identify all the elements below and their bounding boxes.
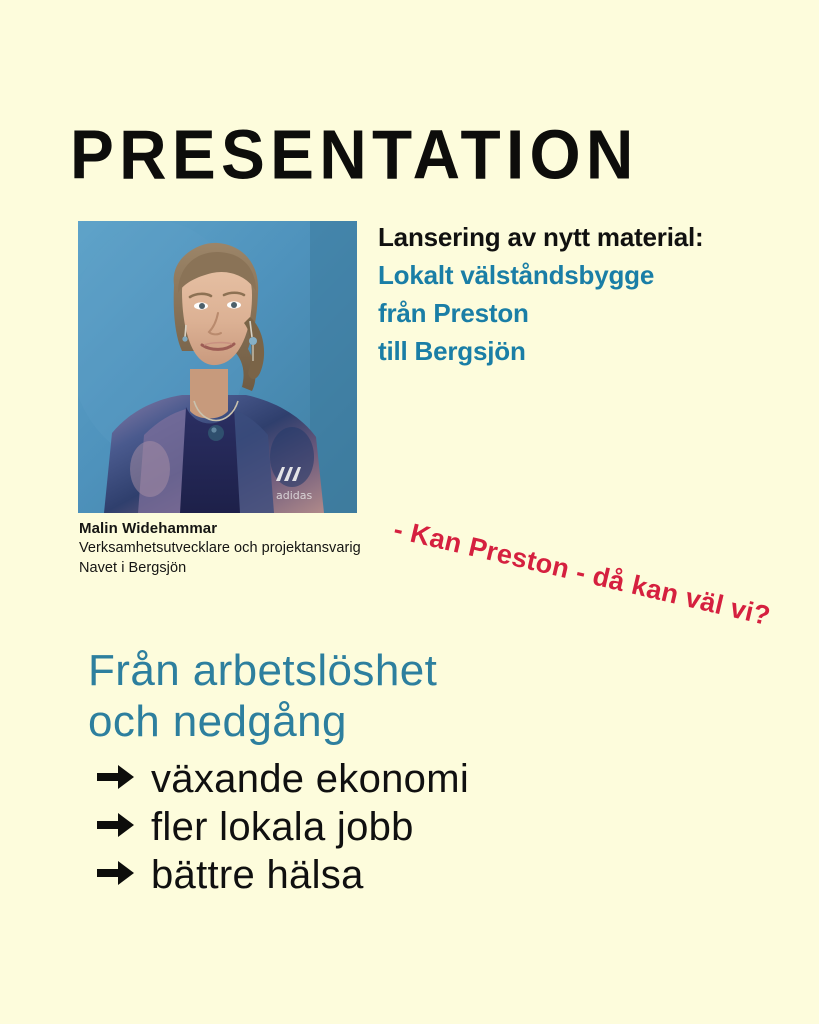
arrow-right-icon <box>97 860 135 886</box>
poster-slide: PRESENTATION <box>0 0 819 1024</box>
outcome-item-label: bättre hälsa <box>151 851 364 899</box>
launch-title-line-2: från Preston <box>378 294 798 332</box>
caption-person-name: Malin Widehammar <box>79 519 399 539</box>
list-item: växande ekonomi <box>97 755 728 803</box>
portrait-photo: adidas <box>78 221 357 513</box>
outcome-list: växande ekonomi fler lokala jobb bättre … <box>88 755 728 899</box>
outcome-item-label: fler lokala jobb <box>151 803 414 851</box>
caption-person-role: Verksamhetsutvecklare och projektansvari… <box>79 539 399 559</box>
outcome-heading-line-1: Från arbetslöshet <box>88 645 728 696</box>
page-title: PRESENTATION <box>70 118 639 194</box>
outcome-heading-line-2: och nedgång <box>88 696 728 747</box>
caption-person-organisation: Navet i Bergsjön <box>79 559 399 579</box>
rotated-quote: - Kan Preston - då kan väl vi? <box>391 513 774 632</box>
outcome-section: Från arbetslöshet och nedgång växande ek… <box>88 645 728 899</box>
photo-caption: Malin Widehammar Verksamhetsutvecklare o… <box>79 519 399 578</box>
launch-lead-text: Lansering av nytt material: <box>378 218 798 256</box>
launch-title-line-1: Lokalt välståndsbygge <box>378 256 798 294</box>
list-item: fler lokala jobb <box>97 803 728 851</box>
outcome-item-label: växande ekonomi <box>151 755 469 803</box>
arrow-right-icon <box>97 812 135 838</box>
list-item: bättre hälsa <box>97 851 728 899</box>
portrait-photo-image: adidas <box>78 221 357 513</box>
svg-text:adidas: adidas <box>276 489 313 502</box>
launch-announcement: Lansering av nytt material: Lokalt välst… <box>378 218 798 370</box>
arrow-right-icon <box>97 764 135 790</box>
launch-title-line-3: till Bergsjön <box>378 332 798 370</box>
